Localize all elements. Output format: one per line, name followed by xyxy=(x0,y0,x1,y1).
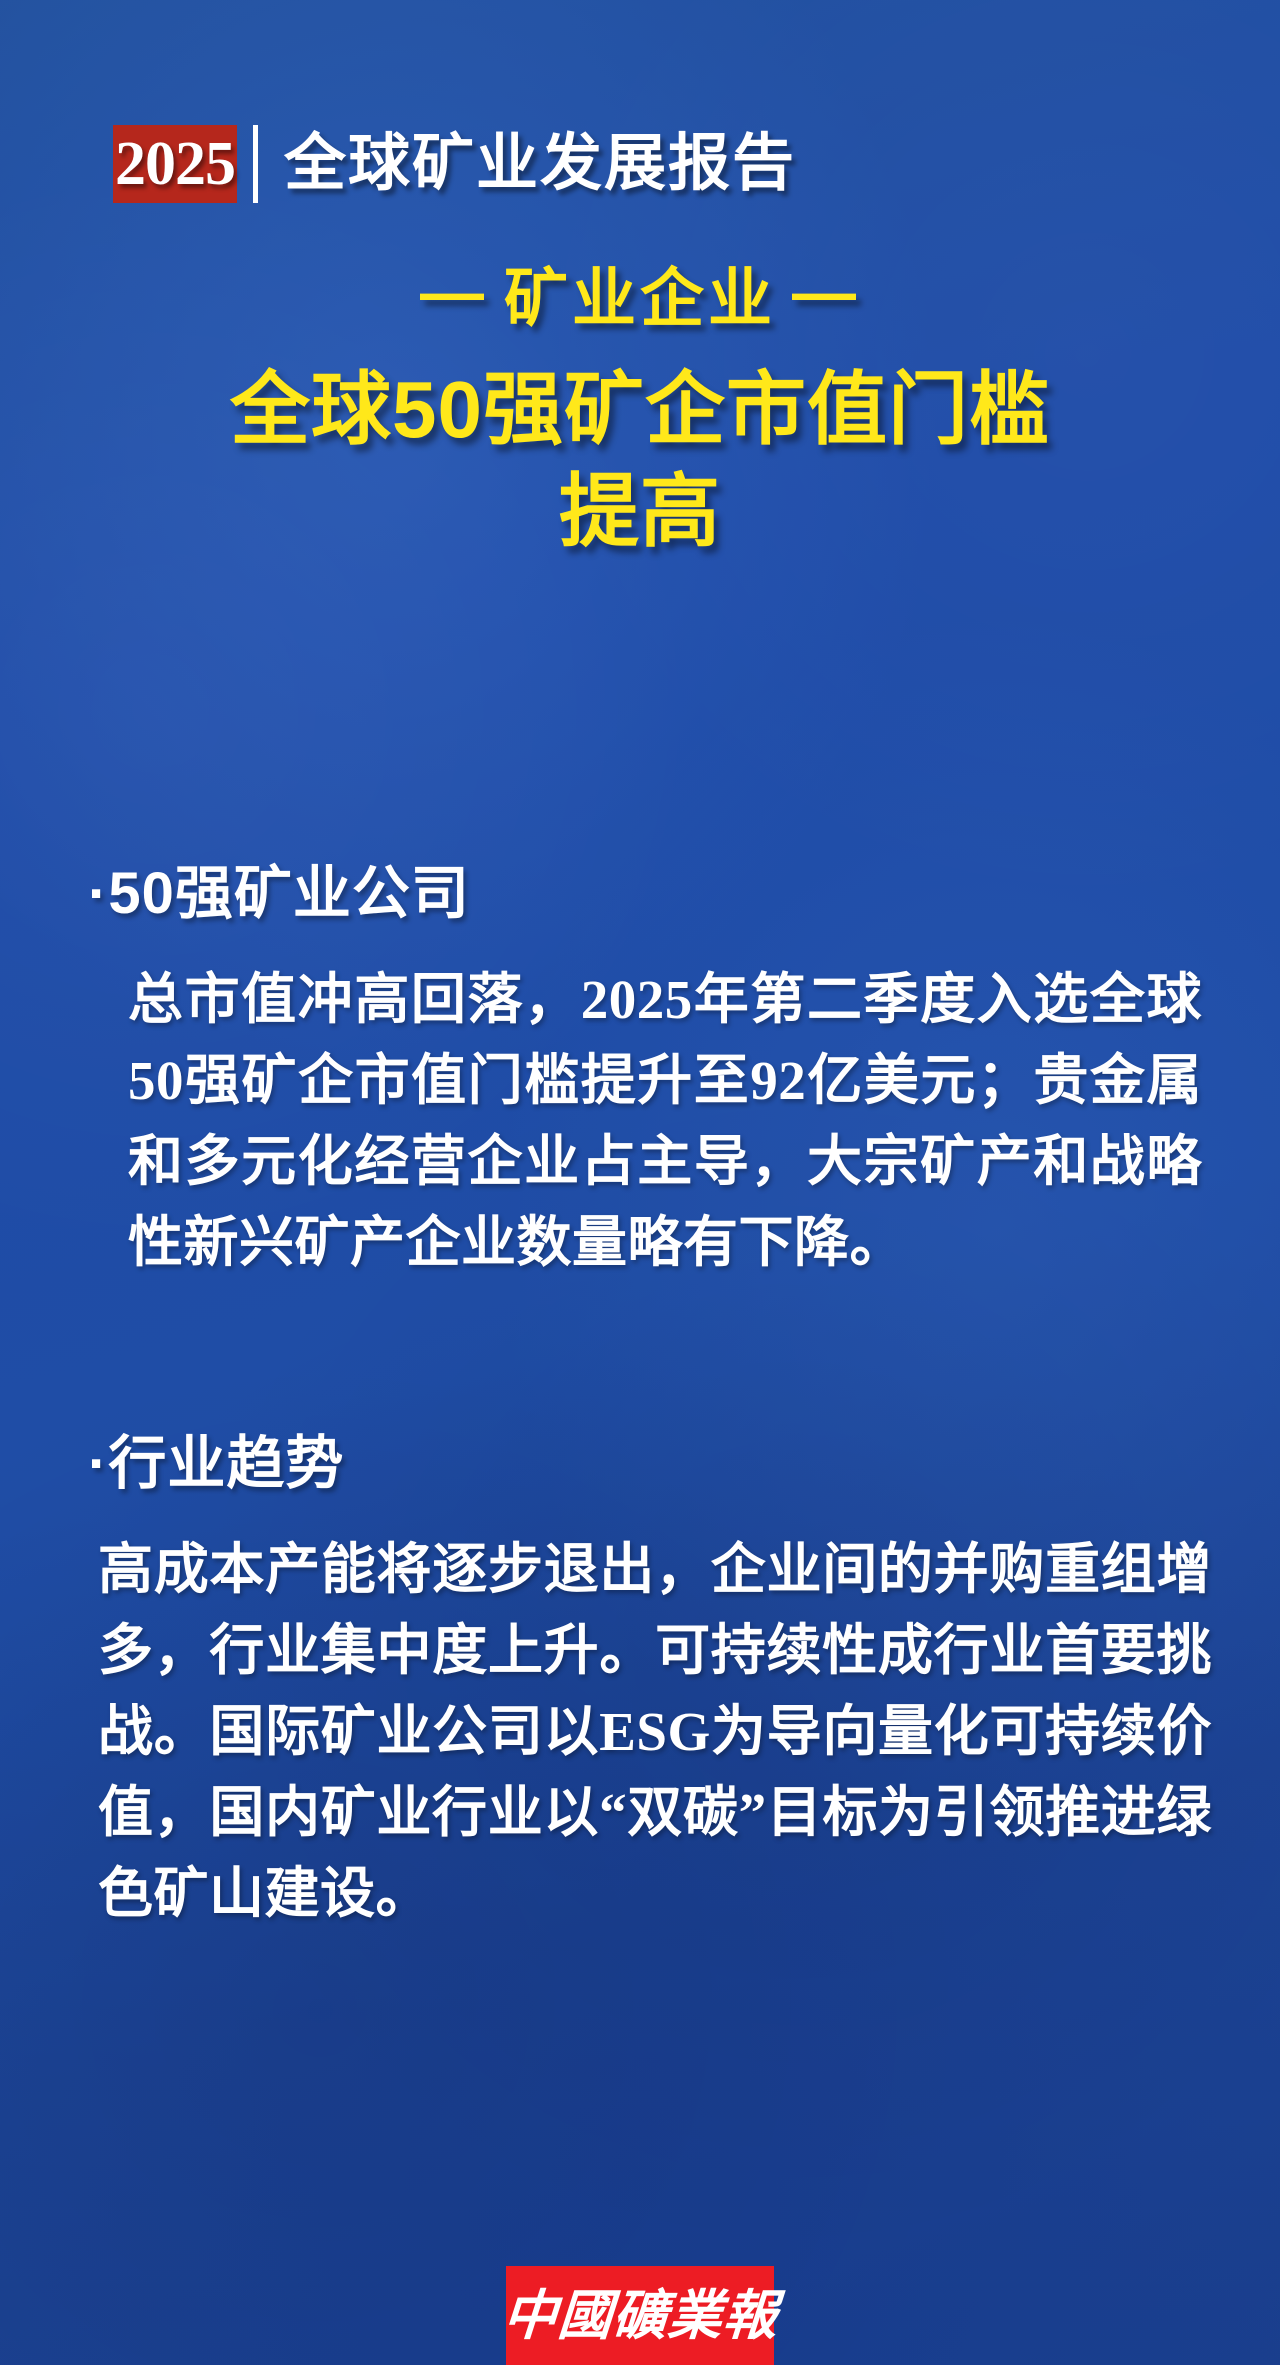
year-label: 2025 xyxy=(115,133,235,195)
poster-header: 2025 全球矿业发展报告 xyxy=(113,125,796,203)
year-badge: 2025 xyxy=(113,125,237,203)
poster-footer: 中國礦業報 xyxy=(0,2230,1280,2365)
section-heading: ·50强矿业公司 xyxy=(88,860,1280,928)
content-section-mining-companies: ·50强矿业公司 总市值冲高回落，2025年第二季度入选全球50强矿企市值门槛提… xyxy=(0,860,1280,1284)
report-title: 全球矿业发展报告 xyxy=(284,133,796,195)
poster-main-title: 全球50强矿企市值门槛 提高 xyxy=(0,359,1280,564)
dash-left: — xyxy=(420,255,488,331)
publisher-logo-text: 中國礦業報 xyxy=(501,2289,780,2343)
section-body: 总市值冲高回落，2025年第二季度入选全球50强矿企市值门槛提升至92亿美元；贵… xyxy=(128,960,1202,1283)
publisher-logo: 中國礦業報 xyxy=(506,2266,774,2365)
subtitle-text: 矿业企业 xyxy=(504,262,776,334)
section-heading: ·行业趋势 xyxy=(88,1430,1280,1498)
main-title-line-2: 提高 xyxy=(0,461,1280,563)
poster-canvas: 2025 全球矿业发展报告 —矿业企业— 全球50强矿企市值门槛 提高 ·50强… xyxy=(0,0,1280,2365)
title-block: —矿业企业— 全球50强矿企市值门槛 提高 xyxy=(0,255,1280,564)
dash-right: — xyxy=(792,255,860,331)
content-section-industry-trends: ·行业趋势 高成本产能将逐步退出，企业间的并购重组增多，行业集中度上升。可持续性… xyxy=(0,1430,1280,1935)
header-divider xyxy=(253,125,258,203)
poster-subtitle: —矿业企业— xyxy=(0,255,1280,337)
section-body: 高成本产能将逐步退出，企业间的并购重组增多，行业集中度上升。可持续性成行业首要挑… xyxy=(98,1530,1212,1934)
main-title-line-1: 全球50强矿企市值门槛 xyxy=(0,359,1280,461)
